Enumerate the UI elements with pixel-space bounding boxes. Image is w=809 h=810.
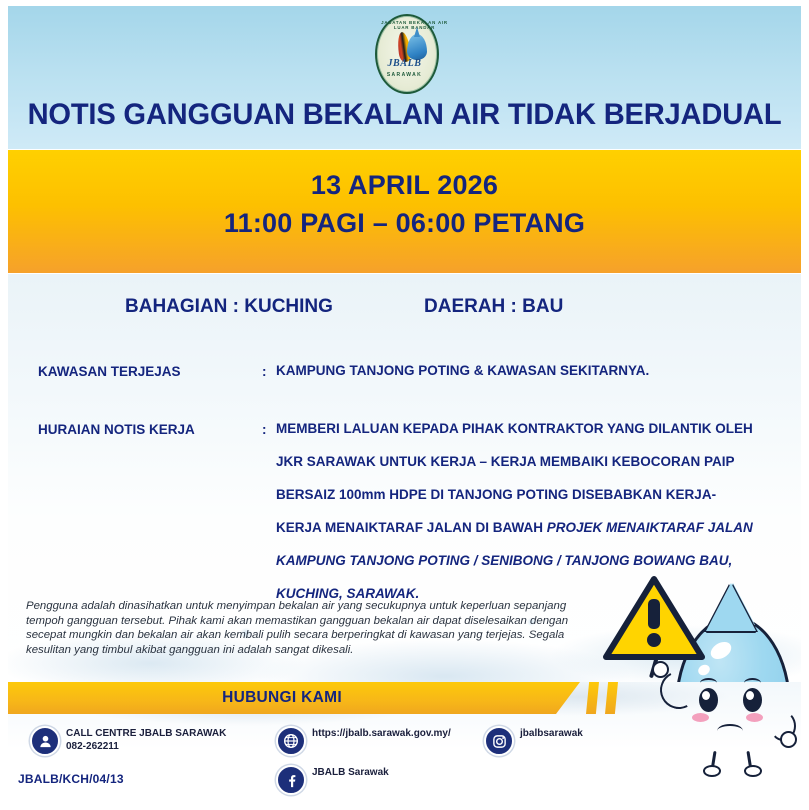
mascot-foot [703,765,721,777]
jbalb-logo: JABATAN BEKALAN AIR LUAR BANDAR JBALB SA… [367,12,443,92]
mascot-mouth [717,724,743,738]
instagram-icon [484,726,514,756]
field-value-line: MEMBERI LALUAN KEPADA PIHAK KONTRAKTOR Y… [276,422,801,455]
field-label: HURAIAN NOTIS KERJA [38,422,233,437]
water-drop-icon [407,34,427,60]
warning-triangle-icon [602,573,706,665]
contact-line1: CALL CENTRE JBALB SARAWAK [66,728,226,739]
notice-date: 13 APRIL 2026 [8,170,801,201]
reference-number: JBALB/KCH/04/13 [18,772,124,786]
logo-oval-frame: JABATAN BEKALAN AIR LUAR BANDAR [375,14,439,94]
field-colon: : [262,364,267,379]
contact-banner-label: HUBUNGI KAMI [8,689,556,707]
field-label: KAWASAN TERJEJAS [38,364,233,379]
globe-icon [276,726,306,756]
notice-poster: JABATAN BEKALAN AIR LUAR BANDAR JBALB SA… [0,0,809,810]
mascot-eye [699,688,718,712]
logo-name-text: JBALB [367,58,443,69]
date-time-band: 13 APRIL 2026 11:00 PAGI – 06:00 PETANG [8,150,801,273]
contact-text: CALL CENTRE JBALB SARAWAK 082-262211 [66,727,226,753]
field-value-line: KERJA MENAIKTARAF JALAN DI BAWAH PROJEK … [276,521,801,554]
mascot-eyebrow [700,678,717,688]
field-value-line: KAMPUNG TANJONG POTING & KAWASAN SEKITAR… [276,364,801,397]
facebook-icon [276,765,306,795]
contact-text: https://jbalb.sarawak.gov.my/ [312,727,451,740]
mascot-right-hand [780,731,797,748]
contact-line2: 082-262211 [66,741,119,752]
notice-time: 11:00 PAGI – 06:00 PETANG [8,208,801,239]
field-value-line: JKR SARAWAK UNTUK KERJA – KERJA MEMBAIKI… [276,455,801,488]
page-title: NOTIS GANGGUAN BEKALAN AIR TIDAK BERJADU… [20,98,789,132]
mascot-blush [692,713,709,722]
droplet-tip [706,583,756,631]
division-label: BAHAGIAN : KUCHING [125,296,333,318]
field-colon: : [262,422,267,437]
district-label: DAERAH : BAU [424,296,563,318]
banner-stripe-decor [586,682,599,714]
banner-stripe-decor [605,682,618,714]
person-icon [30,726,60,756]
field-value: KAMPUNG TANJONG POTING & KAWASAN SEKITAR… [276,364,801,397]
mascot-eye [743,688,762,712]
disclaimer-text: Pengguna adalah dinasihatkan untuk menyi… [26,599,586,657]
contact-text: jbalbsarawak [520,727,583,740]
mascot-blush [746,713,763,722]
mascot-eyebrow [744,678,761,688]
contact-text: JBALB Sarawak [312,766,389,779]
contact-banner: HUBUNGI KAMI [8,682,580,714]
mascot-foot [744,765,762,777]
field-value-line: BERSAIZ 100mm HDPE DI TANJONG POTING DIS… [276,488,801,521]
poster-header: JABATAN BEKALAN AIR LUAR BANDAR JBALB SA… [8,6,801,149]
logo-sub-text: SARAWAK [367,72,443,78]
